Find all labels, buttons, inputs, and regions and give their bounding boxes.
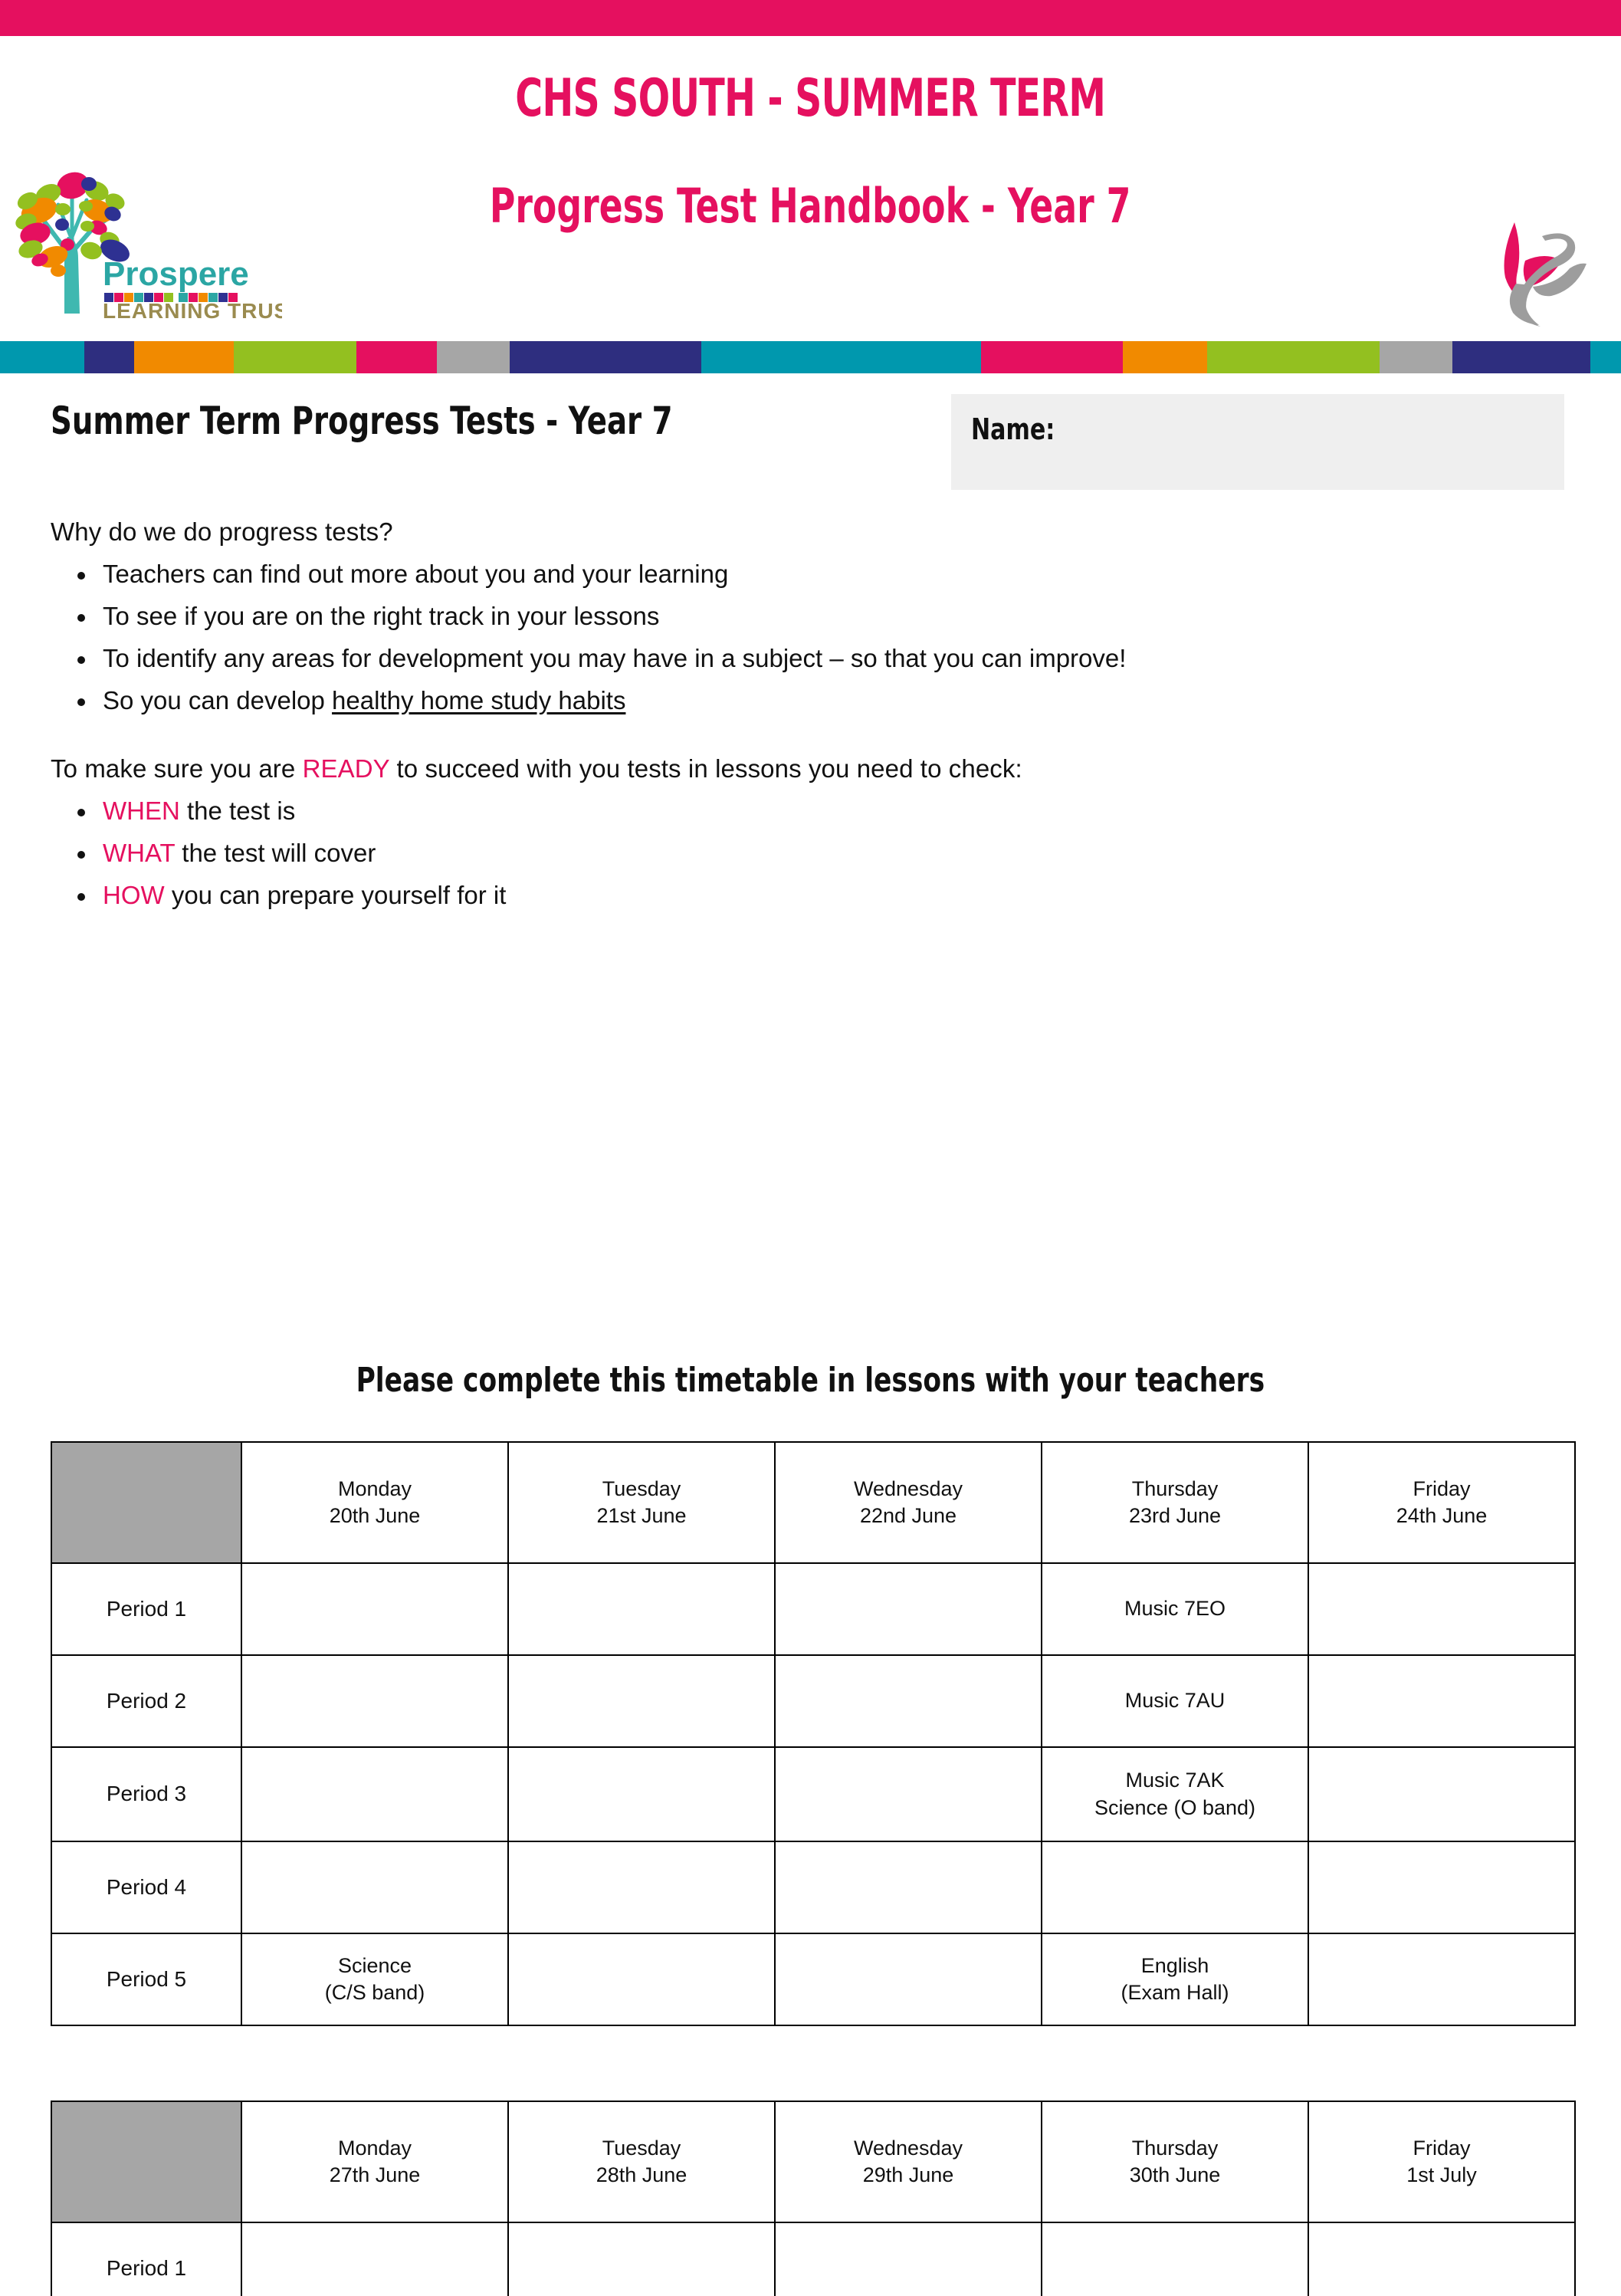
list-item: WHEN the test is — [51, 798, 1576, 823]
column-date: 22nd June — [779, 1503, 1038, 1529]
timetable-cell-line: (C/S band) — [245, 1979, 504, 2006]
timetable-instruction-heading: Please complete this timetable in lesson… — [0, 1361, 1621, 1400]
column-header-thursday: Thursday30th June — [1042, 2101, 1308, 2222]
prospere-learning-trust-logo: Prospere LEARNING TRUS — [14, 166, 282, 324]
when-keyword: WHEN — [103, 797, 180, 825]
table-header-row: Monday20th JuneTuesday21st JuneWednesday… — [51, 1442, 1575, 1563]
why-bullet-4-prefix: So you can develop — [103, 686, 332, 714]
column-day-name: Monday — [245, 2135, 504, 2162]
top-pink-band — [0, 0, 1621, 36]
timetable-cell[interactable] — [508, 1933, 775, 2025]
column-header-monday: Monday27th June — [241, 2101, 508, 2222]
column-header-thursday: Thursday23rd June — [1042, 1442, 1308, 1563]
timetable-cell[interactable]: Music 7AKScience (O band) — [1042, 1747, 1308, 1841]
timetable-cell[interactable] — [508, 1841, 775, 1933]
stripe-segment-14 — [1590, 341, 1621, 373]
document-header: CHS SOUTH - SUMMER TERM Progress Test Ha… — [0, 36, 1621, 341]
column-header-friday: Friday24th June — [1308, 1442, 1575, 1563]
timetable-cell[interactable] — [508, 1563, 775, 1655]
timetable-cell[interactable] — [1308, 1933, 1575, 2025]
timetable-cell[interactable] — [241, 1563, 508, 1655]
column-header-wednesday: Wednesday22nd June — [775, 1442, 1042, 1563]
ready-bullet-list: WHEN the test is WHAT the test will cove… — [51, 798, 1576, 908]
column-header-tuesday: Tuesday21st June — [508, 1442, 775, 1563]
ready-lead-after: to succeed with you tests in lessons you… — [389, 754, 1022, 783]
column-day-name: Friday — [1312, 1476, 1571, 1503]
column-header-wednesday: Wednesday29th June — [775, 2101, 1042, 2222]
timetable-cell[interactable] — [241, 1841, 508, 1933]
table-row: Period 3Music 7AKScience (O band) — [51, 1747, 1575, 1841]
main-content: Summer Term Progress Tests - Year 7 Name… — [0, 373, 1621, 519]
column-date: 23rd June — [1045, 1503, 1304, 1529]
name-label: Name: — [971, 412, 1055, 446]
svg-text:Prospere: Prospere — [103, 255, 249, 293]
timetable-cell[interactable] — [508, 1655, 775, 1747]
timetable-cell[interactable] — [775, 1655, 1042, 1747]
timetable-cell[interactable] — [1308, 1655, 1575, 1747]
ready-lead: To make sure you are READY to succeed wi… — [51, 756, 1576, 781]
timetable-cell-line: (Exam Hall) — [1045, 1979, 1304, 2006]
stripe-segment-6 — [437, 341, 510, 373]
timetable-cell[interactable] — [241, 1747, 508, 1841]
list-item: HOW you can prepare yourself for it — [51, 882, 1576, 908]
paragraph-spacer — [51, 713, 1576, 756]
timetable-cell-line: Science (O band) — [1045, 1795, 1304, 1821]
timetable-cell[interactable] — [1042, 2222, 1308, 2296]
timetable-week-1: Monday20th JuneTuesday21st JuneWednesday… — [51, 1441, 1576, 2026]
list-item: So you can develop healthy home study ha… — [51, 688, 1576, 713]
how-rest: you can prepare yourself for it — [165, 881, 507, 909]
stripe-segment-7 — [510, 341, 701, 373]
stripe-segment-12 — [1380, 341, 1452, 373]
page-title: Summer Term Progress Tests - Year 7 — [51, 399, 673, 443]
stripe-segment-1 — [0, 341, 84, 373]
table-row: Period 5Science(C/S band)English(Exam Ha… — [51, 1933, 1575, 2025]
intro-prose: Why do we do progress tests? Teachers ca… — [51, 519, 1576, 908]
column-date: 21st June — [512, 1503, 771, 1529]
timetable-instruction-text: Please complete this timetable in lesson… — [356, 1361, 1265, 1400]
column-header-monday: Monday20th June — [241, 1442, 508, 1563]
timetable-cell[interactable] — [508, 2222, 775, 2296]
row-label-period-3: Period 3 — [51, 1747, 241, 1841]
stripe-segment-3 — [134, 341, 234, 373]
why-bullet-1: Teachers can find out more about you and… — [103, 560, 728, 588]
tree-logo-icon: Prospere LEARNING TRUS — [14, 166, 282, 324]
stripe-segment-5 — [356, 341, 437, 373]
column-day-name: Wednesday — [779, 2135, 1038, 2162]
ready-lead-before: To make sure you are — [51, 754, 303, 783]
timetable-cell-line: Music 7EO — [1045, 1595, 1304, 1622]
list-item: To identify any areas for development yo… — [51, 645, 1576, 671]
list-item: WHAT the test will cover — [51, 840, 1576, 866]
row-label-period-2: Period 2 — [51, 1655, 241, 1747]
timetable-cell[interactable] — [775, 2222, 1042, 2296]
column-day-name: Tuesday — [512, 2135, 771, 2162]
stripe-segment-9 — [981, 341, 1123, 373]
stripe-segment-8 — [701, 341, 981, 373]
column-date: 30th June — [1045, 2162, 1304, 2189]
timetable-cell[interactable] — [775, 1747, 1042, 1841]
column-date: 27th June — [245, 2162, 504, 2189]
timetable-cell[interactable]: English(Exam Hall) — [1042, 1933, 1308, 2025]
timetable-cell[interactable] — [775, 1563, 1042, 1655]
timetable-cell[interactable] — [241, 1655, 508, 1747]
column-header-friday: Friday1st July — [1308, 2101, 1575, 2222]
table-corner-cell — [51, 2101, 241, 2222]
school-butterfly-logo — [1472, 201, 1606, 335]
what-keyword: WHAT — [103, 839, 175, 867]
timetable-cell[interactable] — [1308, 1563, 1575, 1655]
stripe-segment-13 — [1452, 341, 1590, 373]
when-rest: the test is — [180, 797, 295, 825]
timetable-cell[interactable] — [1308, 2222, 1575, 2296]
column-day-name: Thursday — [1045, 2135, 1304, 2162]
column-date: 20th June — [245, 1503, 504, 1529]
column-date: 24th June — [1312, 1503, 1571, 1529]
row-label-period-1: Period 1 — [51, 2222, 241, 2296]
stripe-segment-4 — [234, 341, 356, 373]
handbook-page: CHS SOUTH - SUMMER TERM Progress Test Ha… — [0, 0, 1621, 2296]
timetable-cell[interactable] — [1308, 1841, 1575, 1933]
stripe-segment-2 — [84, 341, 134, 373]
row-label-period-1: Period 1 — [51, 1563, 241, 1655]
column-header-tuesday: Tuesday28th June — [508, 2101, 775, 2222]
timetable-cell[interactable]: Music 7AU — [1042, 1655, 1308, 1747]
column-date: 29th June — [779, 2162, 1038, 2189]
table-header-row: Monday27th JuneTuesday28th JuneWednesday… — [51, 2101, 1575, 2222]
ready-keyword: READY — [303, 754, 390, 783]
title-row: Summer Term Progress Tests - Year 7 Name… — [0, 373, 1621, 519]
timetable-cell[interactable] — [775, 1933, 1042, 2025]
timetable-cell-line: Science — [245, 1953, 504, 1979]
butterfly-logo-icon — [1472, 201, 1606, 335]
header-title-sub: Progress Test Handbook - Year 7 — [490, 181, 1131, 231]
timetable-cell-line: Music 7AK — [1045, 1767, 1304, 1794]
what-rest: the test will cover — [175, 839, 376, 867]
table-row: Period 4 — [51, 1841, 1575, 1933]
timetable-cell-line: Music 7AU — [1045, 1687, 1304, 1714]
table-row: Period 2Music 7AU — [51, 1655, 1575, 1747]
timetable-cell[interactable] — [1308, 1747, 1575, 1841]
name-field-box[interactable]: Name: — [951, 394, 1564, 490]
healthy-home-study-habits-link[interactable]: healthy home study habits — [332, 686, 625, 714]
timetable-cell[interactable] — [508, 1747, 775, 1841]
column-day-name: Thursday — [1045, 1476, 1304, 1503]
column-day-name: Friday — [1312, 2135, 1571, 2162]
timetable-cell[interactable] — [241, 2222, 508, 2296]
stripe-segment-11 — [1207, 341, 1380, 373]
column-date: 1st July — [1312, 2162, 1571, 2189]
why-bullet-2: To see if you are on the right track in … — [103, 602, 659, 630]
why-bullet-list: Teachers can find out more about you and… — [51, 561, 1576, 713]
row-label-period-4: Period 4 — [51, 1841, 241, 1933]
list-item: Teachers can find out more about you and… — [51, 561, 1576, 586]
row-label-period-5: Period 5 — [51, 1933, 241, 2025]
column-date: 28th June — [512, 2162, 771, 2189]
column-day-name: Wednesday — [779, 1476, 1038, 1503]
list-item: To see if you are on the right track in … — [51, 603, 1576, 629]
why-heading: Why do we do progress tests? — [51, 519, 1576, 544]
svg-text:LEARNING TRUST: LEARNING TRUST — [103, 299, 282, 323]
header-title-main: CHS SOUTH - SUMMER TERM — [516, 71, 1106, 126]
timetable-cell-line: English — [1045, 1953, 1304, 1979]
why-bullet-3: To identify any areas for development yo… — [103, 644, 1126, 672]
timetable-cell[interactable]: Music 7EO — [1042, 1563, 1308, 1655]
brand-stripe-bar — [0, 341, 1621, 373]
table-corner-cell — [51, 1442, 241, 1563]
column-day-name: Monday — [245, 1476, 504, 1503]
timetable-cell[interactable] — [1042, 1841, 1308, 1933]
timetable-cell[interactable]: Science(C/S band) — [241, 1933, 508, 2025]
timetable-week-2: Monday27th JuneTuesday28th JuneWednesday… — [51, 2101, 1576, 2296]
table-row: Period 1 — [51, 2222, 1575, 2296]
how-keyword: HOW — [103, 881, 165, 909]
table-row: Period 1Music 7EO — [51, 1563, 1575, 1655]
stripe-segment-10 — [1123, 341, 1207, 373]
timetable-cell[interactable] — [775, 1841, 1042, 1933]
column-day-name: Tuesday — [512, 1476, 771, 1503]
